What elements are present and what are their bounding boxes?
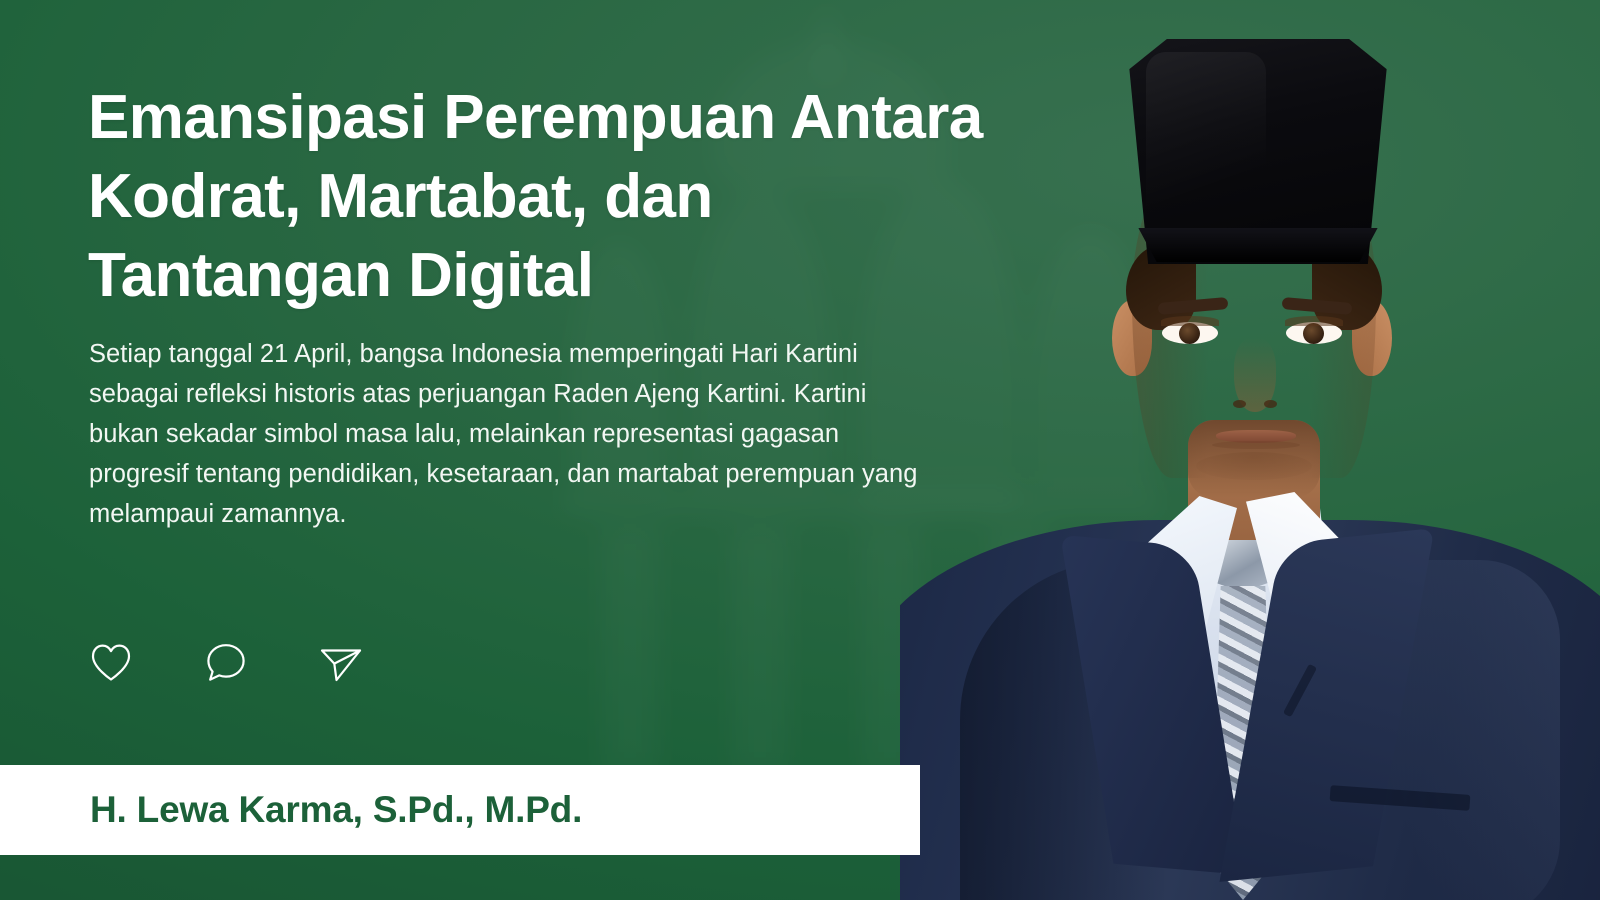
poster-card: Emansipasi Perempuan Antara Kodrat, Mart…	[0, 0, 1600, 900]
speaker-portrait	[900, 0, 1600, 900]
action-bar	[88, 640, 364, 686]
author-name: H. Lewa Karma, S.Pd., M.Pd.	[90, 789, 582, 831]
comment-icon	[205, 642, 247, 684]
body-paragraph: Setiap tanggal 21 April, bangsa Indonesi…	[89, 334, 919, 534]
heart-icon	[90, 643, 132, 683]
like-button[interactable]	[88, 640, 134, 686]
share-button[interactable]	[318, 640, 364, 686]
page-title: Emansipasi Perempuan Antara Kodrat, Mart…	[88, 78, 1003, 315]
send-icon	[319, 642, 363, 684]
comment-button[interactable]	[203, 640, 249, 686]
author-banner: H. Lewa Karma, S.Pd., M.Pd.	[0, 765, 920, 855]
